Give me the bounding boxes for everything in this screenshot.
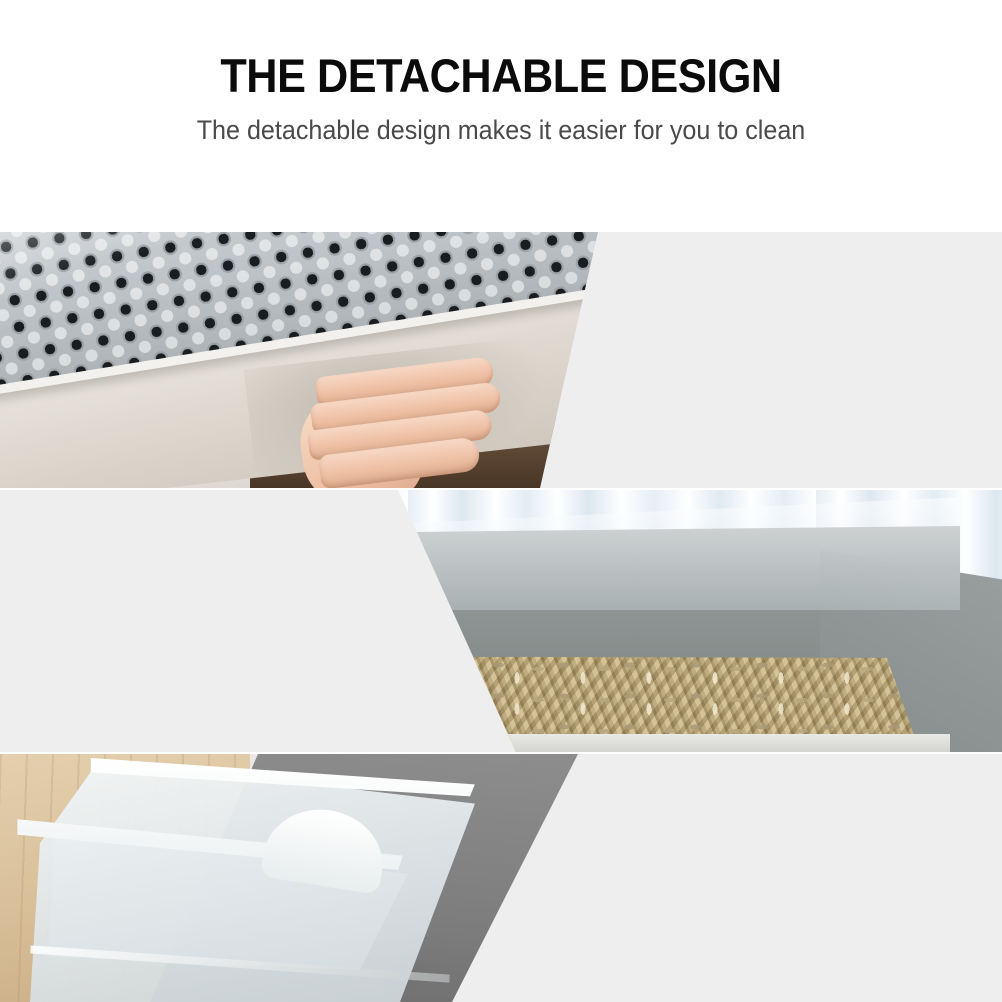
feature-photo-2	[0, 490, 1002, 752]
page-title: THE DETACHABLE DESIGN	[40, 48, 962, 103]
header: THE DETACHABLE DESIGN The detachable des…	[0, 0, 1002, 232]
photo2-box-left-wall	[20, 576, 240, 752]
page-subtitle: The detachable design makes it easier fo…	[35, 115, 967, 146]
feature-photo-1	[0, 232, 600, 488]
feature-panel-2: 2 SEMI ENCLOSED DESIGN	[0, 490, 1002, 752]
product-infographic: THE DETACHABLE DESIGN The detachable des…	[0, 0, 1002, 1002]
feature-panel-1: 1 HIGH QUALITY MATERIALS	[0, 232, 1002, 488]
photo2-box-front-edge	[70, 734, 950, 752]
feature-panel-3: 3 NO NEED TO WORRY ABOUT BREAKING	[0, 754, 1002, 1002]
feature-photo-3	[0, 754, 600, 1002]
